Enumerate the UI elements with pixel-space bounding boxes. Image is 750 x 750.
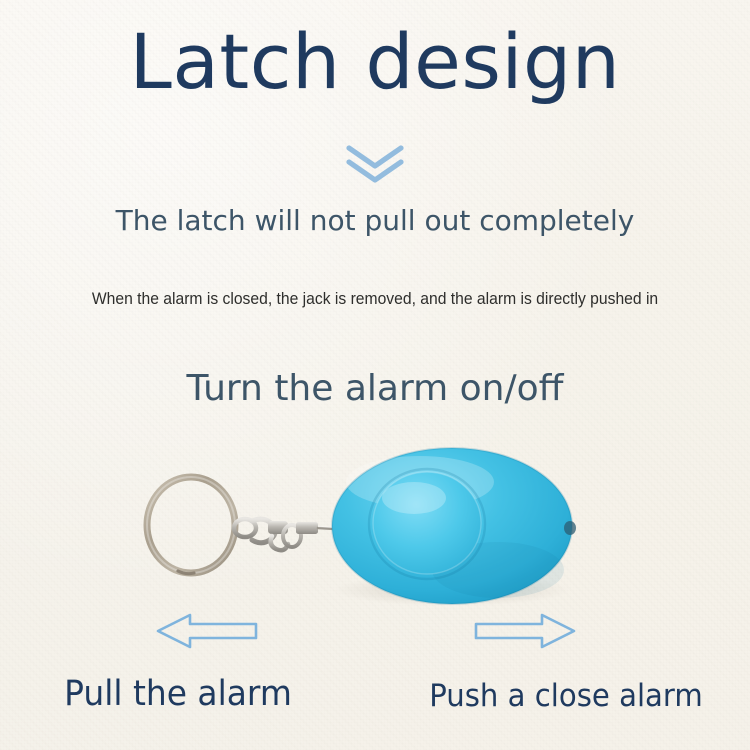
push-instruction-label: Push a close alarm: [406, 678, 726, 714]
pin-notch: [564, 521, 576, 535]
arrow-right-icon: [470, 608, 580, 659]
product-photo: [0, 438, 750, 618]
caption-text: When the alarm is closed, the jack is re…: [19, 290, 732, 309]
arrow-left-icon: [152, 608, 262, 659]
alarm-button: [369, 469, 485, 579]
double-chevron-down-icon: [0, 138, 750, 186]
subtitle-text: The latch will not pull out completely: [0, 204, 750, 237]
section-heading: Turn the alarm on/off: [0, 368, 750, 409]
split-key-ring: [147, 477, 235, 574]
page-title: Latch design: [0, 22, 750, 102]
product-infographic: Latch design The latch will not pull out…: [0, 0, 750, 750]
swivel-clasp: [234, 519, 318, 550]
pull-instruction-label: Pull the alarm: [18, 674, 338, 714]
